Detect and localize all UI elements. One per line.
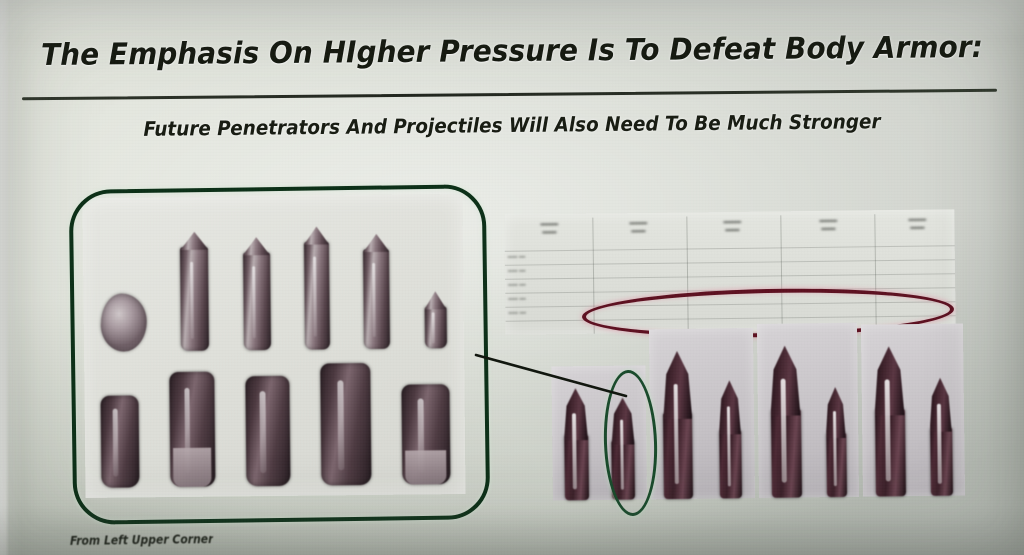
bullet-projectile-1a [563,388,588,500]
table-row-label: ━━━ ━━ [508,282,526,288]
projectile-pair-4 [861,323,965,496]
presentation-slide: ━━━━━━━━━━━━━━━━━━━━━━━━━━━━━━━━━━━━━━━━… [0,0,1024,555]
table-row-label: ━━━ ━━ [508,310,526,316]
slide-footnote: From Left Upper Corner [70,532,214,548]
table-row-divider [505,259,955,265]
table-column-header: ━━━━━━━━━ [514,222,584,239]
bullet-projectile-3b [825,387,846,497]
table-row-divider [505,273,955,279]
title-divider [22,89,997,101]
slide-left-edge [0,0,9,555]
page-subtitle: Future Penetrators And Projectiles Will … [41,108,983,142]
page-title: The Emphasis On HIgher Pressure Is To De… [36,30,989,73]
bullet-projectile-2b [718,380,741,498]
projectile-pair-2 [649,328,755,499]
bullet-projectile-2a [662,351,693,499]
bullet-projectile-4a [874,346,906,496]
projectile-pair-3 [757,323,859,498]
table-column-header: ━━━━━━━━━ [694,220,770,237]
table-row-label: ━━━ ━━ [508,296,526,302]
green-box-annotation [69,184,491,525]
bullet-projectile-4b [929,378,952,496]
bullet-projectile-3a [770,345,802,497]
table-row-divider [505,245,955,251]
table-column-header: ━━━━━━━━━ [882,217,952,234]
table-row-label: ━━━ ━━ [508,254,526,260]
table-column-header: ━━━━━━━━━ [788,218,868,235]
table-row-label: ━━━ ━━ [508,268,526,274]
table-column-header: ━━━━━━━━━ [600,221,676,238]
